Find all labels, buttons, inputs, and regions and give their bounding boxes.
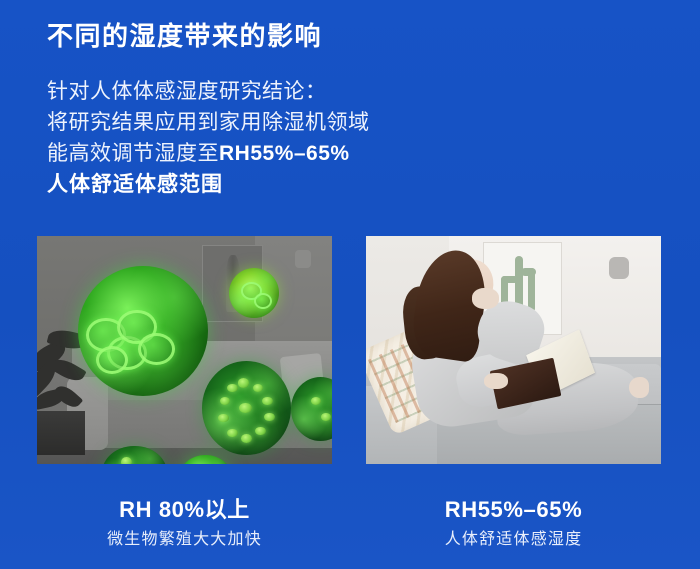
dim-room-background bbox=[37, 236, 332, 464]
caption-group-right: RH55%–65% 人体舒适体感湿度 bbox=[366, 496, 661, 551]
caption-sub-left: 微生物繁殖大大加快 bbox=[37, 529, 332, 551]
germ-blob-edge-bottom bbox=[102, 446, 167, 464]
germ-spike bbox=[227, 429, 238, 437]
caption-title-right: RH55%–65% bbox=[366, 496, 661, 524]
intro-line-1: 针对人体体感湿度研究结论： bbox=[47, 76, 370, 107]
germ-blob-large bbox=[78, 266, 208, 396]
photo-high-humidity bbox=[37, 236, 332, 464]
germ-blob-small-top bbox=[229, 268, 279, 318]
person-hand-on-book bbox=[484, 373, 508, 389]
germ-spike bbox=[311, 397, 322, 405]
page-title: 不同的湿度带来的影响 bbox=[47, 19, 322, 53]
germ-blob-spiky bbox=[202, 361, 291, 454]
person-foot bbox=[629, 377, 650, 398]
germ-spike bbox=[264, 413, 275, 421]
dim-plant-pot bbox=[37, 411, 85, 455]
intro-line-4: 人体舒适体感范围 bbox=[47, 169, 370, 200]
germ-spike bbox=[255, 427, 266, 435]
caption-sub-right: 人体舒适体感湿度 bbox=[366, 529, 661, 551]
germ-cell bbox=[138, 333, 175, 365]
germ-spike bbox=[121, 457, 131, 464]
germ-blob-edge-right bbox=[291, 377, 332, 441]
germ-cell bbox=[96, 346, 128, 374]
germ-spike bbox=[239, 403, 251, 413]
germ-blob-edge-bottom2 bbox=[179, 455, 232, 464]
caption-title-left: RH 80%以上 bbox=[37, 496, 332, 524]
caption-group-left: RH 80%以上 微生物繁殖大大加快 bbox=[37, 496, 332, 551]
intro-line-3: 能高效调节湿度至RH55%–65% bbox=[47, 138, 370, 169]
germ-spike bbox=[253, 384, 264, 392]
photo-comfort-humidity-scene bbox=[366, 236, 661, 464]
intro-line-2: 将研究结果应用到家用除湿机领域 bbox=[47, 107, 370, 138]
germ-spike bbox=[220, 397, 231, 405]
germ-spike bbox=[262, 397, 273, 405]
intro-paragraph: 针对人体体感湿度研究结论： 将研究结果应用到家用除湿机领域 能高效调节湿度至RH… bbox=[47, 76, 370, 200]
germ-spike bbox=[227, 384, 238, 392]
germ-spike bbox=[241, 434, 252, 442]
poster-root: 不同的湿度带来的影响 针对人体体感湿度研究结论： 将研究结果应用到家用除湿机领域… bbox=[0, 0, 700, 569]
photo-high-humidity-scene bbox=[37, 236, 332, 464]
photo-comfort-humidity bbox=[366, 236, 661, 464]
germ-spike bbox=[218, 414, 229, 422]
cactus-arm-icon bbox=[501, 276, 518, 283]
intro-line-3-prefix: 能高效调节湿度至 bbox=[47, 142, 219, 165]
bright-wall-speaker-icon bbox=[609, 257, 629, 279]
cactus-arm-icon bbox=[521, 268, 536, 275]
dim-wall-speaker-icon bbox=[295, 250, 311, 268]
person-hand-at-face bbox=[472, 288, 499, 309]
germ-cell bbox=[254, 293, 272, 309]
germ-spike bbox=[321, 413, 330, 421]
germ-spike bbox=[238, 378, 250, 387]
humidity-range-highlight: RH55%–65% bbox=[219, 142, 350, 165]
bright-room-background bbox=[366, 236, 661, 464]
